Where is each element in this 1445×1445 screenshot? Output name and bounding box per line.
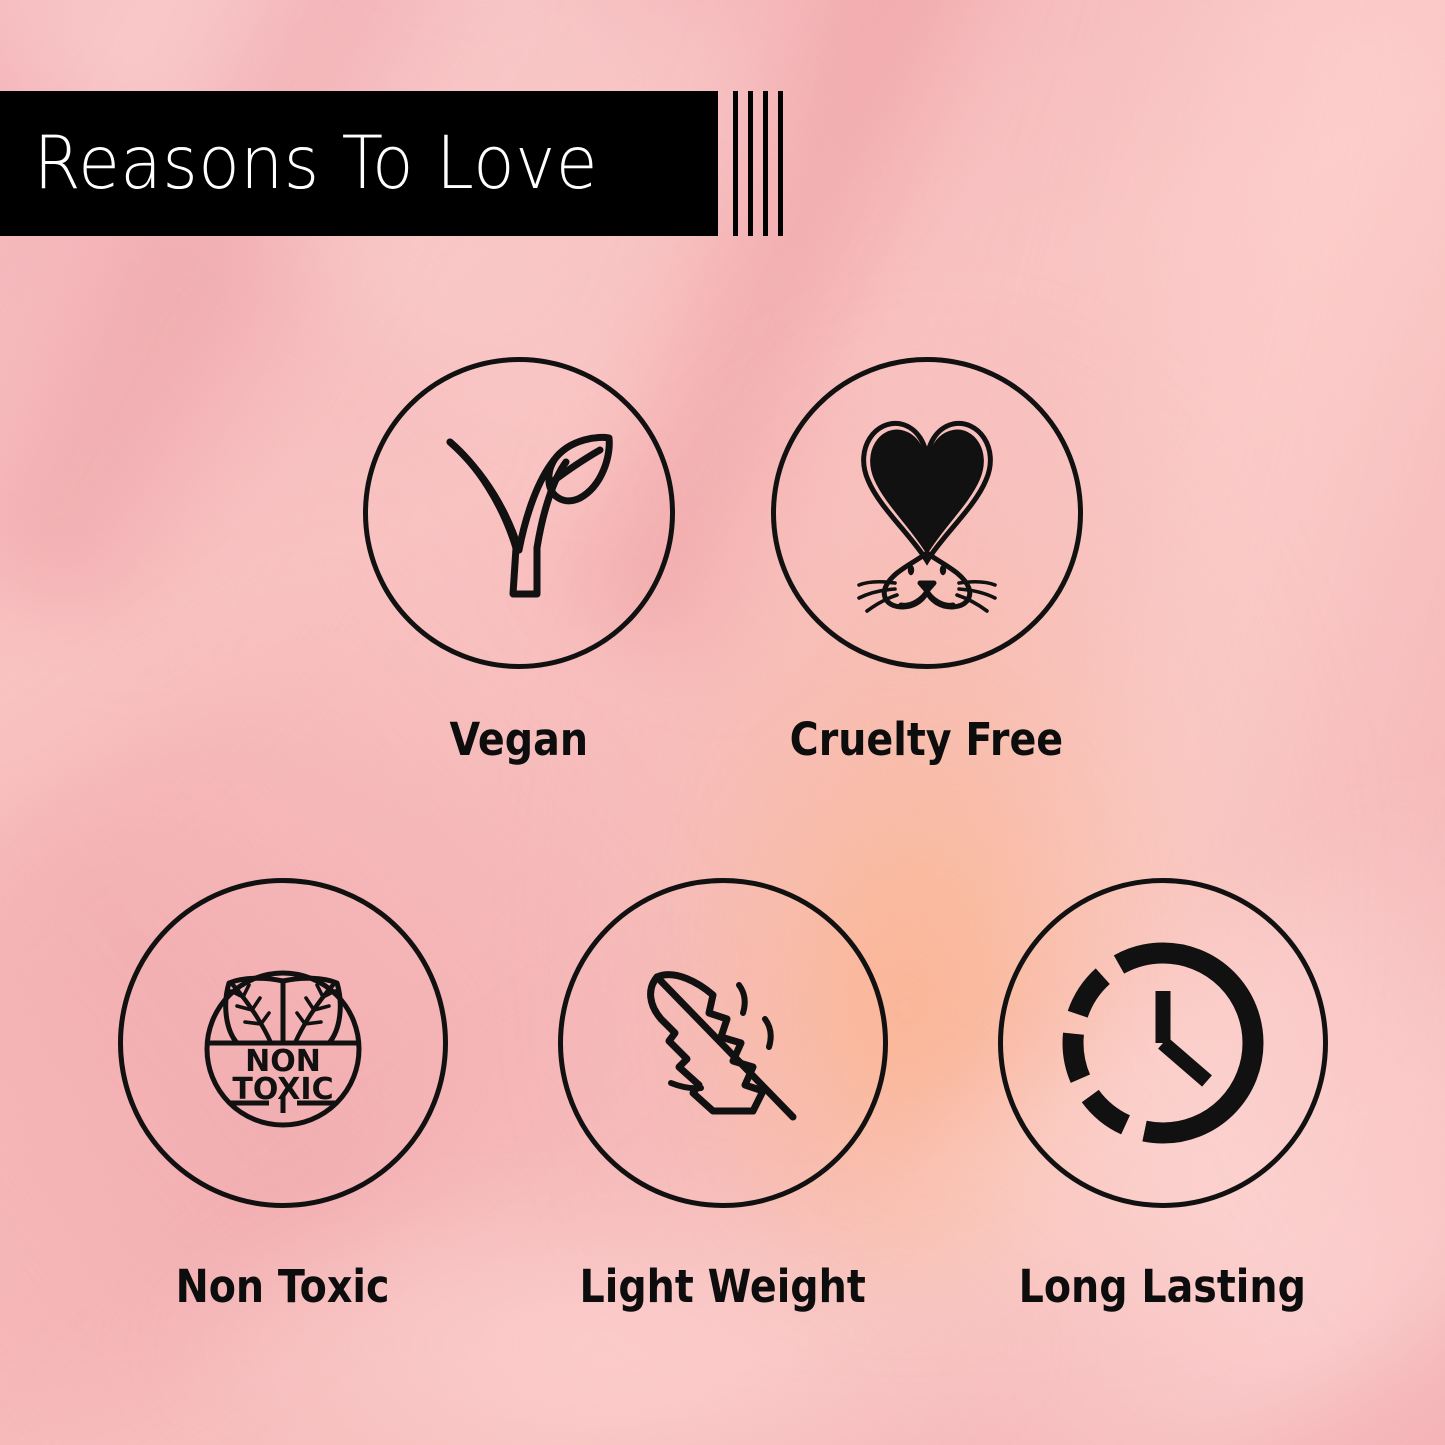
badge-light-weight-label: Light Weight — [579, 1260, 865, 1313]
non-toxic-text-line-2: TOXIC — [232, 1072, 333, 1107]
badge-row-bottom: NON TOXIC Non Toxic — [0, 878, 1445, 1313]
badge-non-toxic: NON TOXIC Non Toxic — [118, 878, 448, 1313]
clock-icon — [1051, 931, 1275, 1155]
header-stripe-1 — [733, 91, 738, 236]
badge-light-weight-circle — [558, 878, 888, 1208]
header-banner: Reasons To Love — [0, 91, 783, 236]
badge-vegan-label: Vegan — [449, 713, 588, 766]
badge-cruelty-free: Cruelty Free — [771, 357, 1083, 766]
badge-row-top: Vegan — [0, 357, 1445, 766]
badge-non-toxic-label: Non Toxic — [176, 1260, 390, 1313]
badge-long-lasting: Long Lasting — [998, 878, 1328, 1313]
badge-light-weight: Light Weight — [558, 878, 888, 1313]
vegan-sprout-icon — [404, 398, 634, 628]
badge-vegan-circle — [363, 357, 675, 669]
header-stripe-group — [733, 91, 783, 236]
title-bar: Reasons To Love — [0, 91, 718, 236]
badge-vegan: Vegan — [363, 357, 675, 766]
badge-non-toxic-circle: NON TOXIC — [118, 878, 448, 1208]
bunny-heart-ears-icon — [807, 393, 1047, 633]
non-toxic-leaf-badge-icon: NON TOXIC — [177, 937, 389, 1149]
header-stripe-2 — [748, 91, 753, 236]
header-stripe-4 — [778, 91, 783, 236]
header-stripe-3 — [763, 91, 768, 236]
feather-icon — [613, 933, 833, 1153]
poster-canvas: Reasons To Love — [0, 0, 1445, 1445]
badge-cruelty-free-circle — [771, 357, 1083, 669]
badge-long-lasting-circle — [998, 878, 1328, 1208]
page-title: Reasons To Love — [0, 127, 598, 200]
badge-long-lasting-label: Long Lasting — [1019, 1260, 1306, 1313]
badge-cruelty-free-label: Cruelty Free — [790, 713, 1064, 766]
